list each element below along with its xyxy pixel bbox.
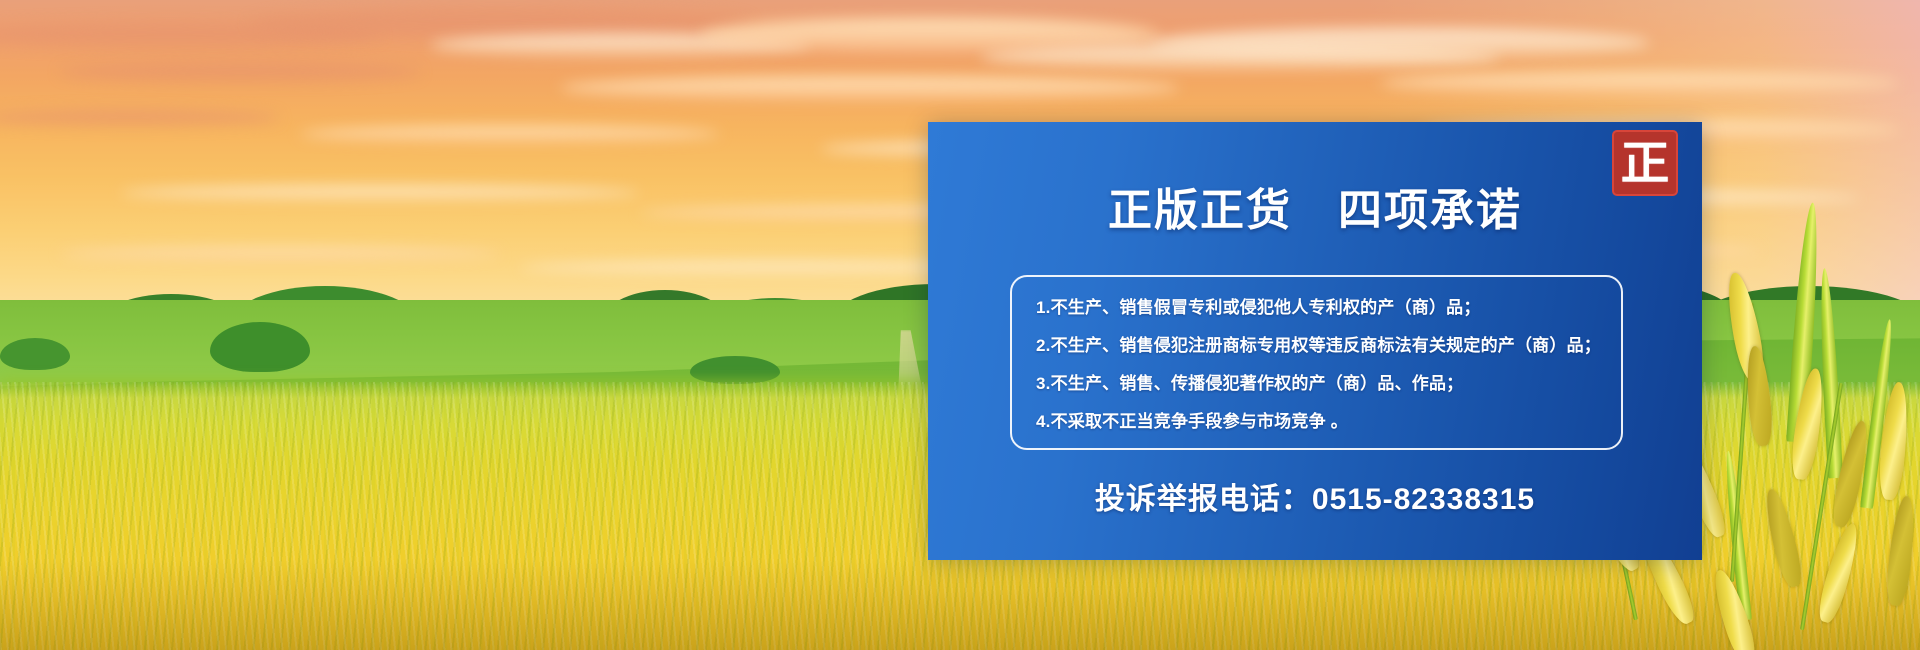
promotional-banner: 正 正版正货 四项承诺 1.不生产、销售假冒专利或侵犯他人专利权的产（商）品； … <box>0 0 1920 650</box>
promise-list-box: 1.不生产、销售假冒专利或侵犯他人专利权的产（商）品； 2.不生产、销售侵犯注册… <box>1010 275 1623 450</box>
promise-item-4: 4.不采取不正当竞争手段参与市场竞争 。 <box>1036 413 1597 430</box>
promise-item-2: 2.不生产、销售侵犯注册商标专用权等违反商标法有关规定的产（商）品； <box>1036 337 1597 354</box>
complaint-hotline: 投诉举报电话：0515-82338315 <box>928 474 1702 518</box>
promise-item-1: 1.不生产、销售假冒专利或侵犯他人专利权的产（商）品； <box>1036 299 1597 316</box>
commitment-panel: 正 正版正货 四项承诺 1.不生产、销售假冒专利或侵犯他人专利权的产（商）品； … <box>928 122 1702 560</box>
panel-title: 正版正货 四项承诺 <box>928 174 1702 238</box>
promise-item-3: 3.不生产、销售、传播侵犯著作权的产（商）品、作品； <box>1036 375 1597 392</box>
